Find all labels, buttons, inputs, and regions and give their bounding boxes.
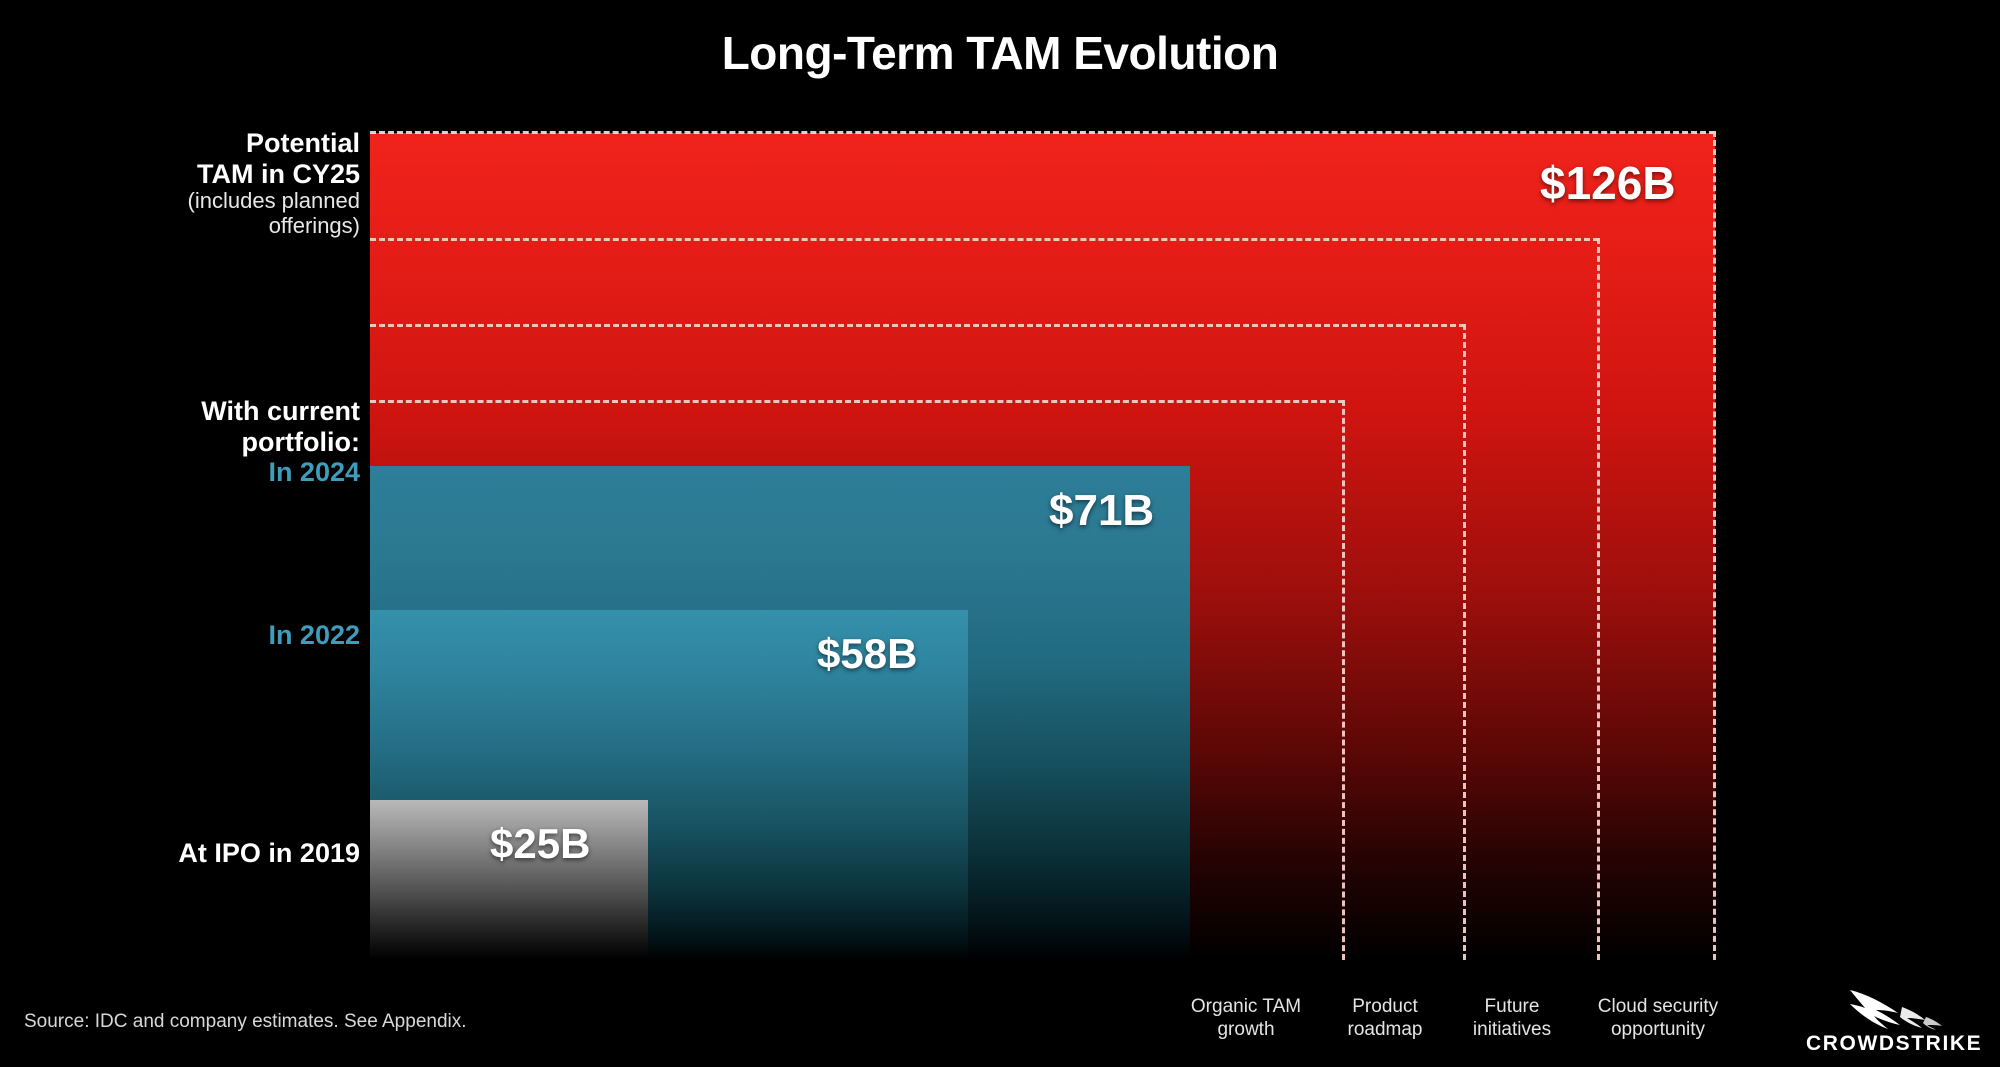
dashed-line-future-initiatives-divider: [1463, 324, 1466, 960]
category-label-at-ipo-wrap: At IPO in 2019: [30, 838, 360, 869]
driver-future-initiatives-line-1: Future: [1448, 995, 1576, 1018]
driver-label-future-initiatives: Future initiatives: [1448, 995, 1576, 1041]
slide-root: Long-Term TAM Evolution $126B $71B $58B …: [0, 0, 2000, 1067]
value-label-in-2022: $58B: [817, 630, 917, 678]
potential-tam-sub-1: (includes planned: [30, 189, 360, 214]
driver-label-organic-tam-growth: Organic TAM growth: [1172, 995, 1320, 1041]
value-label-in-2024: $71B: [1049, 486, 1154, 536]
dashed-line-cloud-security-right: [1713, 131, 1716, 960]
current-portfolio-line-2: portfolio:: [30, 427, 360, 458]
category-label-potential-tam: Potential TAM in CY25 (includes planned …: [30, 128, 360, 239]
dashed-line-cloud-security-divider: [1597, 238, 1600, 960]
dashed-line-tier-future-initiatives: [370, 324, 1465, 327]
crowdstrike-wordmark: CROWDSTRIKE: [1806, 1032, 1978, 1056]
category-label-at-ipo-2019: At IPO in 2019: [30, 838, 360, 869]
driver-product-roadmap-line-2: roadmap: [1320, 1018, 1450, 1041]
value-label-at-ipo-2019: $25B: [490, 820, 590, 868]
driver-label-product-roadmap: Product roadmap: [1320, 995, 1450, 1041]
driver-product-roadmap-line-1: Product: [1320, 995, 1450, 1018]
dashed-line-tier-cloud-security: [370, 238, 1599, 241]
category-label-in-2024: In 2024: [30, 457, 360, 488]
driver-label-cloud-security-opportunity: Cloud security opportunity: [1570, 995, 1746, 1041]
category-label-current-portfolio: With current portfolio: In 2024: [30, 396, 360, 488]
dashed-line-top-edge: [370, 131, 1715, 134]
crowdstrike-logo: CROWDSTRIKE: [1806, 983, 1978, 1057]
category-label-in-2022-wrap: In 2022: [30, 620, 360, 651]
current-portfolio-line-1: With current: [30, 396, 360, 427]
driver-organic-tam-growth-line-2: growth: [1172, 1018, 1320, 1041]
driver-organic-tam-growth-line-1: Organic TAM: [1172, 995, 1320, 1018]
dashed-line-tier-product-roadmap: [370, 400, 1344, 403]
source-note: Source: IDC and company estimates. See A…: [24, 1011, 467, 1033]
driver-future-initiatives-line-2: initiatives: [1448, 1018, 1576, 1041]
value-label-potential-tam: $126B: [1540, 156, 1676, 210]
potential-tam-line-2: TAM in CY25: [30, 159, 360, 190]
category-label-in-2022: In 2022: [30, 620, 360, 651]
growth-driver-labels: Organic TAM growth Product roadmap Futur…: [1180, 995, 1760, 1055]
potential-tam-line-1: Potential: [30, 128, 360, 159]
falcon-logo-icon: [1806, 983, 1978, 1031]
dashed-line-product-roadmap-divider: [1342, 400, 1345, 960]
potential-tam-sub-2: offerings): [30, 214, 360, 239]
driver-cloud-security-line-2: opportunity: [1570, 1018, 1746, 1041]
driver-cloud-security-line-1: Cloud security: [1570, 995, 1746, 1018]
